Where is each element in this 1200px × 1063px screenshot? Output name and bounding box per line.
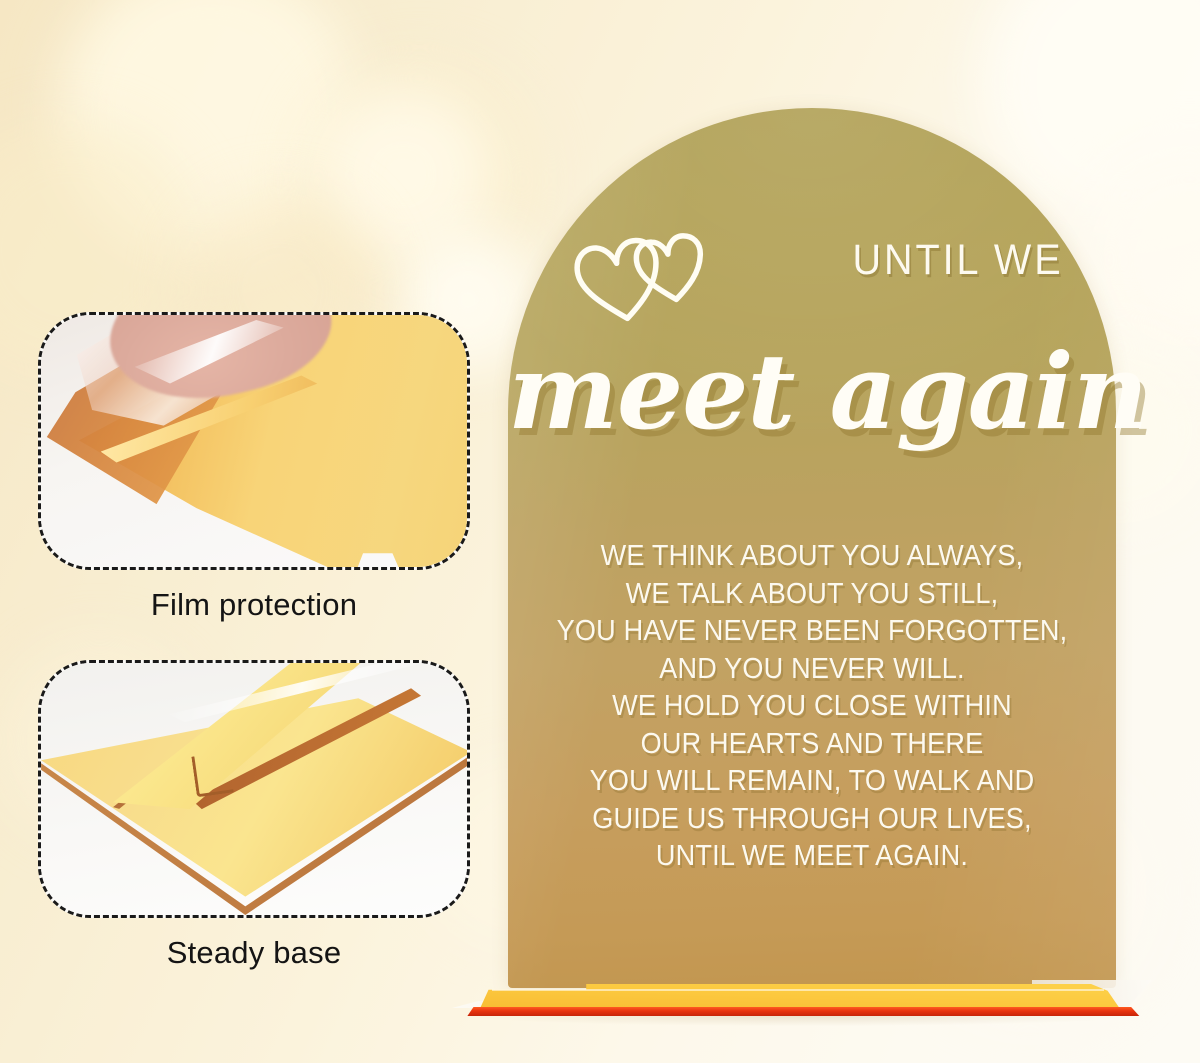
- sign-script-headline: meet again: [508, 340, 1116, 444]
- sign-eyebrow: UNTIL WE: [820, 236, 1096, 285]
- bokeh-circle: [300, 60, 540, 300]
- sign-stand-base: [452, 980, 1152, 1032]
- poem-line: WE HOLD YOU CLOSE WITHIN: [523, 688, 1101, 726]
- poem-line: UNTIL WE MEET AGAIN.: [523, 838, 1101, 876]
- feature-card-film-protection: Film protection: [38, 312, 470, 623]
- base-drop-shadow: [472, 1016, 1132, 1026]
- slot-notch: [192, 751, 234, 797]
- poem-line: YOU WILL REMAIN, TO WALK AND: [523, 763, 1101, 801]
- bokeh-circle: [318, 90, 488, 260]
- bokeh-circle: [60, 0, 360, 260]
- base-edge-strip: [464, 1007, 1142, 1016]
- sign-poem: WE THINK ABOUT YOU ALWAYS, WE TALK ABOUT…: [523, 538, 1101, 876]
- poem-line: YOU HAVE NEVER BEEN FORGOTTEN,: [523, 613, 1101, 651]
- feature-card-steady-base: Steady base: [38, 660, 470, 971]
- double-hearts-icon: [570, 222, 710, 326]
- feature-caption: Film protection: [38, 587, 470, 623]
- poem-line: GUIDE US THROUGH OUR LIVES,: [523, 801, 1101, 839]
- poem-line: AND YOU NEVER WILL.: [523, 651, 1101, 689]
- base-slot-line: [492, 989, 1104, 991]
- poem-line: WE TALK ABOUT YOU STILL,: [523, 576, 1101, 614]
- base-gold-band: [474, 984, 1134, 1010]
- steady-base-photo: [38, 660, 470, 918]
- feature-caption: Steady base: [38, 935, 470, 971]
- poem-line: WE THINK ABOUT YOU ALWAYS,: [523, 538, 1101, 576]
- poem-line: OUR HEARTS AND THERE: [523, 726, 1101, 764]
- memorial-sign: UNTIL WE meet again WE THINK ABOUT YOU A…: [508, 108, 1116, 988]
- film-protection-photo: [38, 312, 470, 570]
